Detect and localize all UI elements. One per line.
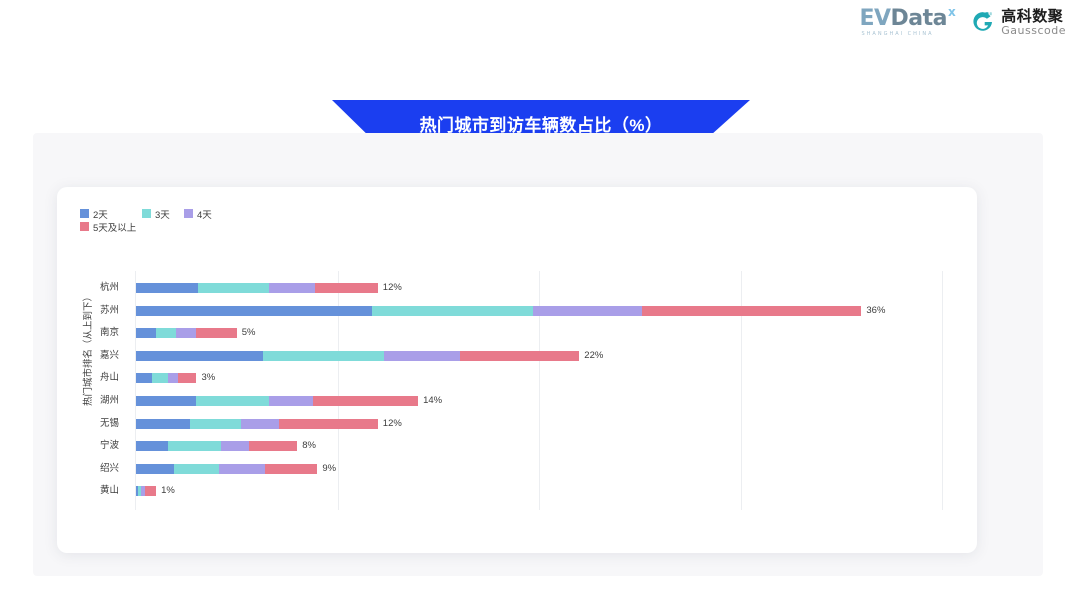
bar-category-label: 湖州 [57, 390, 127, 412]
bar-segment-2天[interactable] [136, 306, 372, 316]
bar-value-label: 1% [158, 480, 175, 502]
bar-track [136, 306, 861, 316]
bar-segment-5天及以上[interactable] [315, 283, 377, 293]
bar-track [136, 396, 418, 406]
bar-category-label: 宁波 [57, 435, 127, 457]
bar-segment-3天[interactable] [152, 373, 168, 383]
bar-segment-4天[interactable] [176, 328, 196, 338]
bar-value-label: 36% [863, 300, 885, 322]
evdata-ev-text: EV [859, 8, 890, 30]
bar-segment-2天[interactable] [136, 419, 190, 429]
bar-value-label: 12% [380, 277, 402, 299]
bar-value-label: 8% [299, 435, 316, 457]
chart-card: 2天 3天 4天 5天及以上 热门城市排名（从上到下） 杭州12%苏州36%南京… [57, 187, 977, 553]
bar-segment-3天[interactable] [198, 283, 269, 293]
bar-value-label: 12% [380, 413, 402, 435]
bar-segment-5天及以上[interactable] [178, 373, 196, 383]
bar-track [136, 351, 579, 361]
brand-bar: EVDatax shanghai china 高科数聚 Gausscode [859, 8, 1066, 37]
bar-category-label: 杭州 [57, 277, 127, 299]
bar-track [136, 419, 378, 429]
bar-row[interactable]: 南京5% [57, 322, 977, 344]
gausscode-logo: 高科数聚 Gausscode [971, 9, 1066, 36]
bar-value-label: 14% [420, 390, 442, 412]
bar-category-label: 无锡 [57, 413, 127, 435]
bar-segment-5天及以上[interactable] [313, 396, 418, 406]
bar-segment-4天[interactable] [219, 464, 265, 474]
bar-segment-2天[interactable] [136, 351, 263, 361]
bar-segment-3天[interactable] [168, 441, 220, 451]
bar-track [136, 441, 297, 451]
bar-value-label: 22% [581, 345, 603, 367]
gausscode-cn-name: 高科数聚 [1001, 9, 1066, 25]
evdata-data-text: Data [891, 8, 947, 30]
bar-row[interactable]: 无锡12% [57, 413, 977, 435]
bar-track [136, 464, 317, 474]
bar-segment-3天[interactable] [190, 419, 240, 429]
bar-category-label: 苏州 [57, 300, 127, 322]
bar-segment-3天[interactable] [372, 306, 533, 316]
bar-segment-5天及以上[interactable] [279, 419, 378, 429]
bar-segment-2天[interactable] [136, 464, 174, 474]
bar-value-label: 5% [239, 322, 256, 344]
gausscode-text: 高科数聚 Gausscode [1001, 9, 1066, 36]
bar-segment-4天[interactable] [269, 396, 313, 406]
bar-category-label: 南京 [57, 322, 127, 344]
bar-segment-2天[interactable] [136, 373, 152, 383]
bar-segment-5天及以上[interactable] [265, 464, 317, 474]
gausscode-mark-icon [971, 10, 995, 34]
bar-category-label: 嘉兴 [57, 345, 127, 367]
gausscode-en-name: Gausscode [1001, 25, 1066, 37]
bar-row[interactable]: 绍兴9% [57, 458, 977, 480]
bar-segment-5天及以上[interactable] [196, 328, 236, 338]
bar-row[interactable]: 嘉兴22% [57, 345, 977, 367]
bar-row[interactable]: 黄山1% [57, 480, 977, 502]
bar-category-label: 绍兴 [57, 458, 127, 480]
evdata-wordmark: EVDatax [859, 8, 955, 30]
bar-segment-3天[interactable] [196, 396, 269, 406]
bar-segment-4天[interactable] [384, 351, 461, 361]
evdata-logo: EVDatax shanghai china [859, 8, 955, 37]
bar-value-label: 9% [319, 458, 336, 480]
bar-segment-2天[interactable] [136, 283, 198, 293]
bar-segment-5天及以上[interactable] [249, 441, 297, 451]
bar-segment-4天[interactable] [269, 283, 315, 293]
bar-segment-3天[interactable] [174, 464, 218, 474]
evdata-tagline: shanghai china [861, 32, 933, 37]
bar-segment-4天[interactable] [221, 441, 249, 451]
bar-row[interactable]: 宁波8% [57, 435, 977, 457]
bar-segment-3天[interactable] [156, 328, 176, 338]
bar-segment-4天[interactable] [241, 419, 279, 429]
bar-segment-2天[interactable] [136, 396, 196, 406]
bar-segment-4天[interactable] [168, 373, 178, 383]
bar-segment-5天及以上[interactable] [460, 351, 579, 361]
bar-row[interactable]: 杭州12% [57, 277, 977, 299]
bar-row[interactable]: 湖州14% [57, 390, 977, 412]
bar-track [136, 486, 156, 496]
bar-segment-5天及以上[interactable] [642, 306, 862, 316]
bar-segment-2天[interactable] [136, 328, 156, 338]
bar-value-label: 3% [198, 367, 215, 389]
bar-row[interactable]: 舟山3% [57, 367, 977, 389]
bar-category-label: 黄山 [57, 480, 127, 502]
bar-track [136, 328, 237, 338]
bar-category-label: 舟山 [57, 367, 127, 389]
evdata-x-icon: x [948, 6, 955, 18]
bar-segment-3天[interactable] [263, 351, 384, 361]
bar-track [136, 373, 196, 383]
bar-segment-2天[interactable] [136, 441, 168, 451]
bar-row[interactable]: 苏州36% [57, 300, 977, 322]
plot-area: 热门城市排名（从上到下） 杭州12%苏州36%南京5%嘉兴22%舟山3%湖州14… [57, 187, 977, 553]
bar-segment-4天[interactable] [533, 306, 642, 316]
bar-track [136, 283, 378, 293]
bar-segment-5天及以上[interactable] [145, 486, 156, 496]
